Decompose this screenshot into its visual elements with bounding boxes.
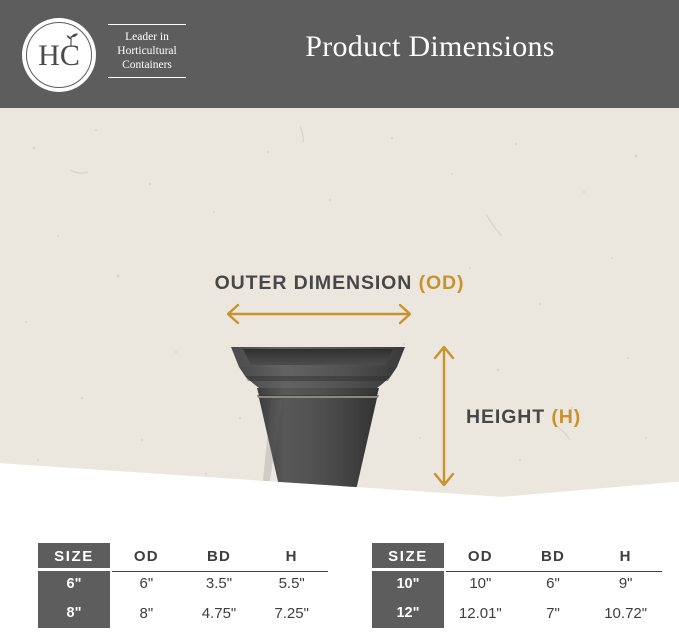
logo-divider-bottom <box>108 77 186 78</box>
column-header-bd: BD <box>183 543 256 569</box>
column-header-h: H <box>589 543 662 569</box>
cell-od: 6" <box>110 569 183 598</box>
page-title: Product Dimensions <box>200 30 660 64</box>
logo-tagline-line-3: Containers <box>106 58 188 72</box>
column-header-size: SIZE <box>372 543 444 569</box>
size-table-right: SIZE OD BD H 10" 10" 6" 9" 12" 12.01" 7"… <box>372 543 662 628</box>
logo-divider-top <box>108 24 186 25</box>
logo-circle-icon: HC <box>22 18 96 92</box>
logo-tagline: Leader in Horticultural Containers <box>106 24 188 78</box>
cell-bd: 6" <box>517 569 590 598</box>
cell-od: 12.01" <box>444 599 517 628</box>
header-banner: HC Leader in Horticultural Containers Pr… <box>0 0 679 108</box>
logo-monogram: HC <box>22 41 96 71</box>
product-dimensions-infographic: HC Leader in Horticultural Containers Pr… <box>0 0 679 636</box>
table-header-row: SIZE OD BD H <box>372 543 662 569</box>
brand-logo: HC Leader in Horticultural Containers <box>22 18 187 92</box>
column-header-od: OD <box>444 543 517 569</box>
cell-size: 6" <box>38 569 110 598</box>
cell-h: 10.72" <box>589 599 662 628</box>
column-header-size: SIZE <box>38 543 110 569</box>
cell-h: 5.5" <box>255 569 328 598</box>
outer-dimension-text: OUTER DIMENSION <box>215 272 413 294</box>
height-arrow-icon <box>430 340 458 492</box>
cell-od: 10" <box>444 569 517 598</box>
outer-dimension-arrow-icon <box>220 300 418 328</box>
height-label: HEIGHT (H) <box>466 406 581 429</box>
cell-bd: 7" <box>517 599 590 628</box>
logo-tagline-line-1: Leader in <box>106 30 188 44</box>
logo-tagline-line-2: Horticultural <box>106 44 188 58</box>
cell-bd: 4.75" <box>183 599 256 628</box>
cell-od: 8" <box>110 599 183 628</box>
cell-size: 12" <box>372 599 444 628</box>
cell-h: 7.25" <box>255 599 328 628</box>
table-row: 6" 6" 3.5" 5.5" <box>38 569 328 598</box>
cell-size: 10" <box>372 569 444 598</box>
column-header-h: H <box>255 543 328 569</box>
table-row: 10" 10" 6" 9" <box>372 569 662 598</box>
table-row: 12" 12.01" 7" 10.72" <box>372 599 662 628</box>
size-table-left: SIZE OD BD H 6" 6" 3.5" 5.5" 8" 8" 4.75"… <box>38 543 328 628</box>
height-code: (H) <box>551 406 581 428</box>
cell-size: 8" <box>38 599 110 628</box>
cell-h: 9" <box>589 569 662 598</box>
table-header-row: SIZE OD BD H <box>38 543 328 569</box>
base-dimension-arrow-icon <box>260 491 374 500</box>
diagram-panel: OUTER DIMENSION (OD) BASE DIMENSION (BD)… <box>0 108 679 500</box>
column-header-od: OD <box>110 543 183 569</box>
column-header-bd: BD <box>517 543 590 569</box>
cell-bd: 3.5" <box>183 569 256 598</box>
outer-dimension-label: OUTER DIMENSION (OD) <box>0 272 679 295</box>
outer-dimension-code: (OD) <box>419 272 465 294</box>
square-planter-pot-icon <box>225 336 411 500</box>
height-text: HEIGHT <box>466 406 545 428</box>
table-row: 8" 8" 4.75" 7.25" <box>38 599 328 628</box>
